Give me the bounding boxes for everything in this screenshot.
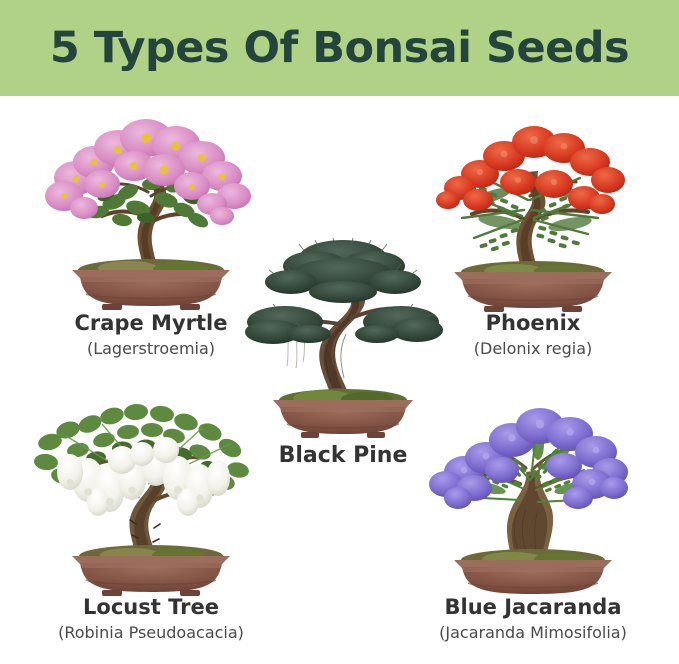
- tree-label-scientific-blue-jacaranda: (Jacaranda Mimosifolia): [388, 624, 678, 642]
- bonsai-blue-jacaranda-icon: [388, 384, 678, 596]
- tree-label-scientific-locust-tree: (Robinia Pseudoacacia): [6, 624, 296, 642]
- page-title: 5 Types Of Bonsai Seeds: [50, 27, 629, 70]
- tree-card-blue-jacaranda: Blue Jacaranda (Jacaranda Mimosifolia): [388, 384, 678, 642]
- tree-label-common-locust-tree: Locust Tree: [6, 596, 296, 619]
- header-banner: 5 Types Of Bonsai Seeds: [0, 0, 679, 96]
- bonsai-locust-tree-icon: [6, 384, 296, 596]
- tree-card-locust-tree: Locust Tree (Robinia Pseudoacacia): [6, 384, 296, 642]
- tree-label-common-blue-jacaranda: Blue Jacaranda: [388, 596, 678, 619]
- infographic-page: 5 Types Of Bonsai Seeds: [0, 0, 679, 664]
